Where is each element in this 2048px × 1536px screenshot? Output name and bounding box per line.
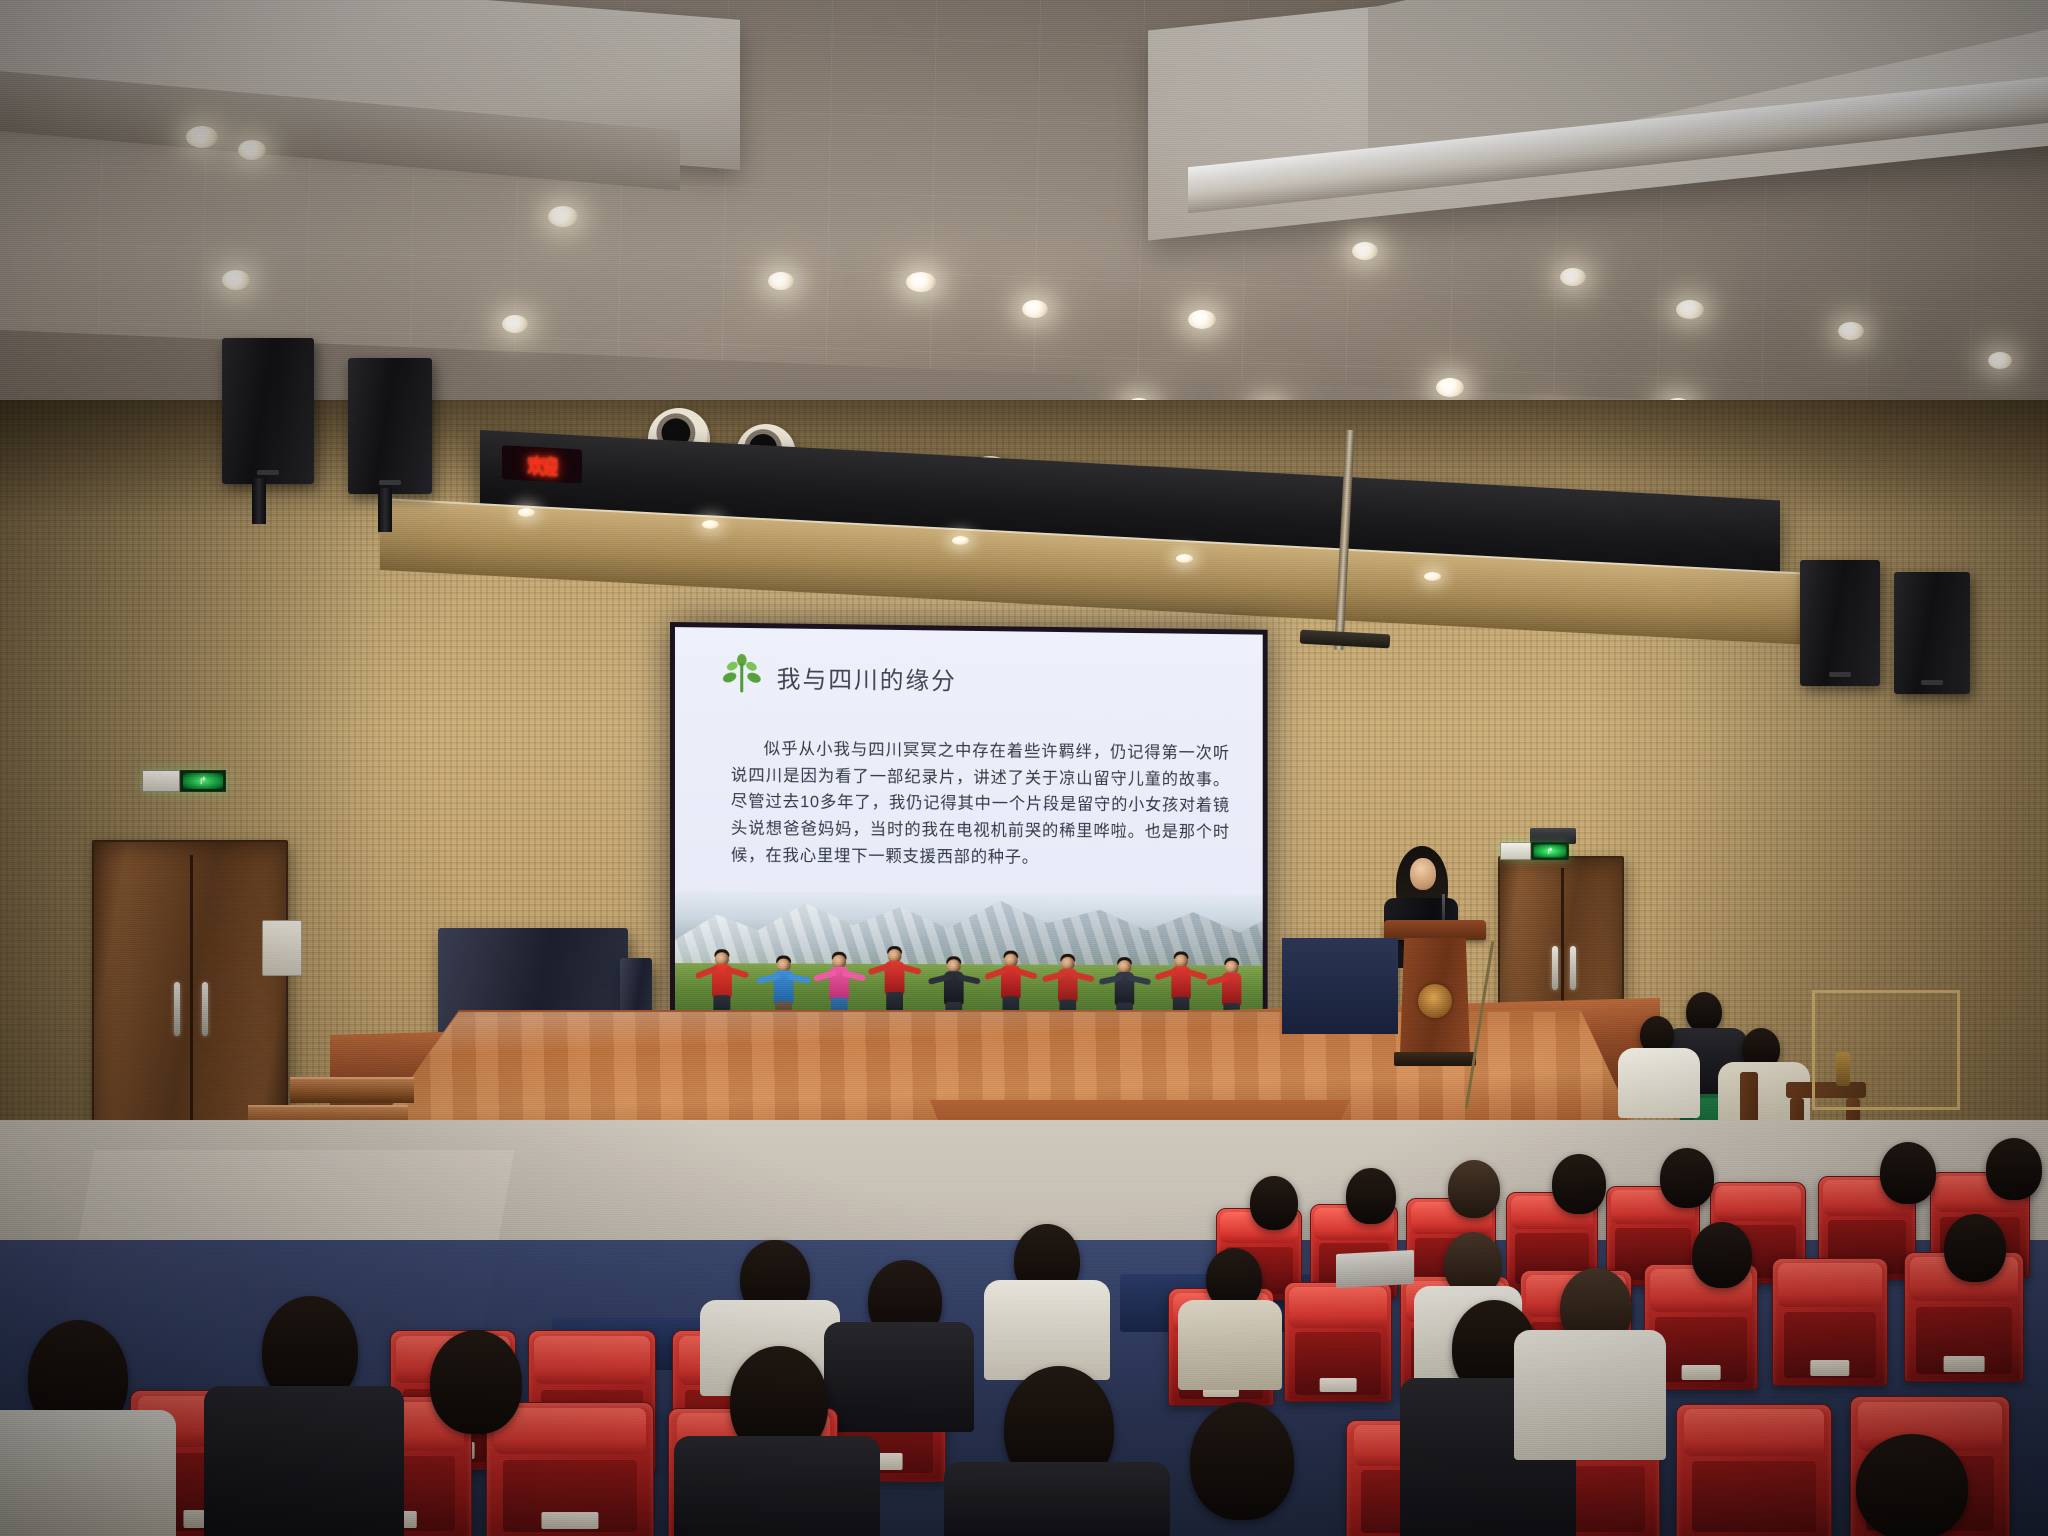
seat-number-tag [1810,1360,1849,1375]
led-banner-display: 欢迎 [502,445,582,483]
auditorium-scene: 欢迎 ↱ ↱ [0,0,2048,1536]
sprout-plant-icon [721,654,763,698]
audience-head [430,1330,522,1434]
wall-frame-panel [1812,990,1960,1110]
slide-canvas: 我与四川的缘分 似乎从小我与四川冥冥之中存在着些许羁绊，仍记得第一次听说四川是因… [675,627,1263,1031]
ceiling-downlight [502,315,528,333]
wall-speaker [1800,560,1880,686]
audience-shoulders [824,1322,974,1432]
valance-spotlight [952,536,969,545]
exit-sign-panel: ↱ [1531,842,1569,860]
door-handle[interactable] [174,982,180,1036]
ceiling-downlight [1838,322,1864,340]
audience-head [1692,1222,1752,1288]
audience-shoulders [944,1462,1170,1536]
ceiling-downlight [186,126,218,148]
seat-panel [1692,1461,1817,1532]
audience-head [1346,1168,1396,1224]
exit-sign-panel: ↱ [180,770,226,792]
audience-head [1552,1154,1606,1214]
audience-head [1448,1160,1500,1218]
audience-head [1944,1214,2006,1282]
door-sign-plate [262,920,302,976]
audience-shoulders [0,1410,176,1536]
audience-shoulders [204,1386,404,1536]
valance-spotlight [518,508,535,517]
audience-shoulders [984,1280,1110,1380]
stage-side-table [1282,938,1398,1034]
ceiling-downlight [222,270,250,290]
emergency-light-box [1500,842,1531,860]
exit-sign-right: ↱ [1500,842,1569,860]
presenter-head [1410,858,1436,890]
ceiling-downlight [768,272,794,290]
theater-seat[interactable] [1284,1282,1392,1402]
audience-shoulders [1514,1330,1666,1460]
audience-head [1190,1402,1294,1520]
seat-headrest [494,1408,645,1455]
staff-head [1686,992,1722,1032]
valance-spotlight [1176,554,1193,563]
ceiling-downlight [548,206,578,227]
ceiling-downlight [1676,300,1704,319]
seat-headrest [1684,1409,1824,1455]
seat-number-tag [1682,1365,1721,1380]
slide-header: 我与四川的缘分 [721,654,957,701]
exit-sign-left: ↱ [142,770,226,792]
valance-spotlight [702,520,719,529]
theater-seat[interactable] [1772,1258,1888,1386]
seat-headrest [1289,1287,1386,1328]
door-handle[interactable] [202,982,208,1036]
audience-head [1856,1434,1968,1536]
university-seal-emblem [1418,984,1452,1018]
running-man-icon: ↱ [1534,844,1567,857]
laptop[interactable] [1336,1250,1414,1288]
ceiling-downlight [1560,268,1586,286]
seat-headrest [1778,1263,1882,1307]
ceiling-downlight [1022,300,1048,318]
ceiling-downlight [1988,352,2012,369]
theater-seat[interactable] [486,1402,654,1536]
seat-headrest [1715,1186,1801,1221]
ceiling-downlight [1436,378,1464,397]
podium-base [1394,1052,1476,1066]
audience-head [1986,1138,2042,1200]
seat-number-tag [1944,1356,1985,1372]
podium-body [1400,938,1470,1054]
valance-spotlight [1424,572,1441,581]
ceiling-downlight [906,272,936,292]
podium[interactable] [1392,920,1478,1070]
audience-shoulders [1178,1300,1282,1390]
slide-title: 我与四川的缘分 [777,659,957,696]
seat-number-tag [1320,1378,1357,1392]
led-banner-text: 欢迎 [528,449,557,480]
theater-seat[interactable] [1676,1404,1832,1536]
wall-speaker [222,338,314,484]
emergency-light-box [142,770,180,792]
slide-body-text: 似乎从小我与四川冥冥之中存在着些许羁绊，仍记得第一次听说四川是因为看了一部纪录片… [731,736,1230,873]
ceiling-downlight [1188,310,1216,329]
ceiling-downlight [1352,242,1378,260]
wall-speaker [348,358,432,494]
audience-head [1660,1148,1714,1208]
ceiling-downlight [238,140,266,160]
wall-speaker [1894,572,1970,694]
door-handle[interactable] [1570,946,1576,990]
audience-shoulders [674,1436,880,1536]
seat-headrest [534,1336,649,1384]
slide-photo [675,891,1263,1031]
door-handle[interactable] [1552,946,1558,990]
podium-top-surface [1384,920,1486,940]
audience-head [1250,1176,1298,1230]
stage-step [290,1077,414,1103]
wall-speaker-mount [378,488,392,532]
running-man-icon: ↱ [183,773,223,789]
presentation-screen[interactable]: 我与四川的缘分 似乎从小我与四川冥冥之中存在着些许羁绊，仍记得第一次听说四川是因… [670,622,1268,1036]
staff-shoulders [1618,1048,1700,1118]
audience-head [1880,1142,1936,1204]
seat-number-tag [541,1512,598,1529]
wall-speaker-mount [252,478,266,524]
